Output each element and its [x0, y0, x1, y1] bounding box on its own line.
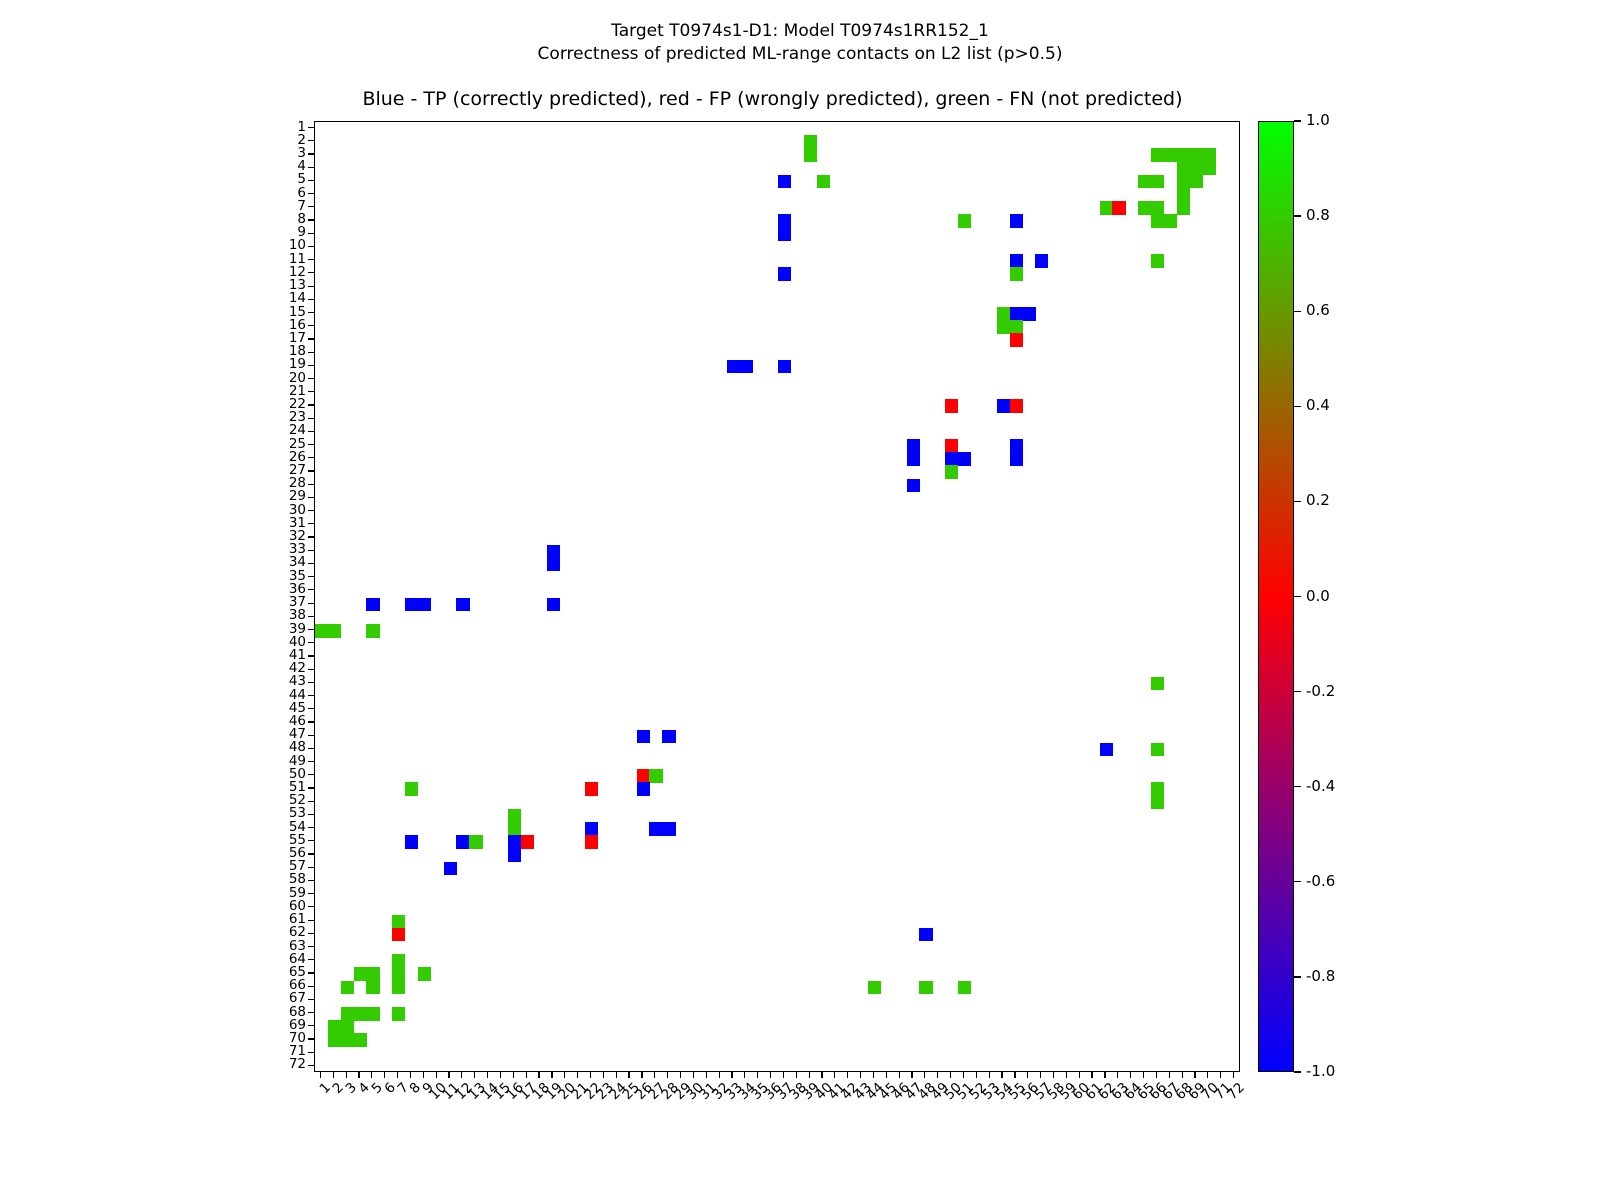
contact-cell — [444, 862, 457, 876]
y-tick — [308, 497, 314, 498]
contact-cell — [1177, 162, 1190, 176]
x-tick — [989, 1072, 990, 1078]
contact-cell — [907, 479, 920, 493]
y-tick — [308, 629, 314, 630]
contact-cell — [1151, 796, 1164, 810]
suptitle-line-2: Correctness of predicted ML-range contac… — [538, 44, 1063, 64]
contact-cell — [1151, 214, 1164, 228]
contact-cell — [1151, 743, 1164, 757]
contact-cell — [354, 967, 367, 981]
contact-cell — [456, 598, 469, 612]
y-tick — [308, 536, 314, 537]
contact-cell — [649, 822, 662, 836]
colorbar-tick-label: 0.8 — [1306, 208, 1330, 223]
axes-title: Blue - TP (correctly predicted), red - F… — [0, 88, 1545, 110]
contact-cell — [1151, 254, 1164, 268]
y-tick — [308, 972, 314, 973]
y-tick — [308, 708, 314, 709]
y-tick — [308, 391, 314, 392]
y-tick — [308, 682, 314, 683]
contact-cell — [341, 981, 354, 995]
x-tick — [320, 1072, 321, 1078]
colorbar-tick-label: 1.0 — [1306, 113, 1330, 128]
contact-cell — [1177, 201, 1190, 215]
y-tick — [308, 1065, 314, 1066]
y-tick — [308, 893, 314, 894]
contact-cell — [1151, 175, 1164, 189]
y-tick — [308, 153, 314, 154]
y-tick — [308, 576, 314, 577]
y-tick — [308, 352, 314, 353]
contact-cell — [778, 228, 791, 242]
y-tick — [308, 444, 314, 445]
y-tick — [308, 1052, 314, 1053]
contact-cell — [1151, 677, 1164, 691]
y-tick — [308, 127, 314, 128]
colorbar-tick — [1294, 596, 1301, 597]
x-tick — [783, 1072, 784, 1078]
contact-cell — [997, 320, 1010, 334]
y-tick — [308, 735, 314, 736]
contact-cell — [1010, 267, 1023, 281]
x-tick — [847, 1072, 848, 1078]
x-tick — [693, 1072, 694, 1078]
y-tick — [308, 193, 314, 194]
x-tick — [1117, 1072, 1118, 1078]
contact-cell — [945, 452, 958, 466]
y-tick — [308, 563, 314, 564]
x-tick — [976, 1072, 977, 1078]
x-tick — [834, 1072, 835, 1078]
colorbar-tick-label: -0.6 — [1306, 874, 1335, 889]
contact-cell — [907, 452, 920, 466]
contact-cell — [1100, 743, 1113, 757]
x-tick — [564, 1072, 565, 1078]
x-tick — [809, 1072, 810, 1078]
colorbar-tick — [1294, 881, 1301, 882]
contact-cell — [662, 822, 675, 836]
y-tick — [308, 180, 314, 181]
contact-cell — [958, 214, 971, 228]
contact-cell — [1177, 188, 1190, 202]
x-tick — [886, 1072, 887, 1078]
y-tick — [308, 325, 314, 326]
y-tick — [308, 761, 314, 762]
contact-cell — [341, 1020, 354, 1034]
x-tick — [358, 1072, 359, 1078]
colorbar-tick — [1294, 215, 1301, 216]
contact-cell — [662, 730, 675, 744]
contact-cell — [739, 360, 752, 374]
contact-cell — [354, 1033, 367, 1047]
y-tick — [308, 589, 314, 590]
contact-cell — [508, 809, 521, 823]
contact-cell — [1022, 307, 1035, 321]
contact-cell — [1010, 254, 1023, 268]
contact-cell — [366, 598, 379, 612]
y-tick — [308, 655, 314, 656]
contact-cell — [508, 822, 521, 836]
x-tick — [641, 1072, 642, 1078]
x-tick — [757, 1072, 758, 1078]
colorbar-tick — [1294, 976, 1301, 977]
contact-cell — [469, 835, 482, 849]
contact-cell — [945, 439, 958, 453]
figure-suptitle: Target T0974s1-D1: Model T0974s1RR152_1 … — [0, 20, 1600, 66]
contact-cell — [1202, 148, 1215, 162]
contact-cell — [997, 399, 1010, 413]
x-tick — [513, 1072, 514, 1078]
y-tick — [308, 959, 314, 960]
contact-cell — [1190, 148, 1203, 162]
contact-cell — [997, 307, 1010, 321]
y-tick — [308, 721, 314, 722]
x-tick — [616, 1072, 617, 1078]
contact-cell — [1010, 214, 1023, 228]
contact-cell — [1190, 162, 1203, 176]
y-tick — [308, 774, 314, 775]
x-tick — [963, 1072, 964, 1078]
y-tick-label: 72 — [262, 1058, 306, 1071]
colorbar-tick-label: -1.0 — [1306, 1064, 1335, 1079]
contact-cell — [1151, 148, 1164, 162]
x-tick — [770, 1072, 771, 1078]
contact-cell — [958, 981, 971, 995]
contact-cell — [392, 915, 405, 929]
y-tick — [308, 814, 314, 815]
y-tick — [308, 920, 314, 921]
contact-cell — [418, 967, 431, 981]
contact-cell — [315, 624, 328, 638]
contact-cell — [778, 267, 791, 281]
x-tick — [1194, 1072, 1195, 1078]
x-tick — [899, 1072, 900, 1078]
contact-cell — [585, 782, 598, 796]
contact-cell — [817, 175, 830, 189]
y-tick — [308, 603, 314, 604]
contact-cell — [418, 598, 431, 612]
contact-cell — [778, 175, 791, 189]
contact-cell — [508, 848, 521, 862]
y-tick — [308, 616, 314, 617]
y-tick — [308, 338, 314, 339]
contact-cell — [1177, 175, 1190, 189]
y-tick — [308, 748, 314, 749]
contact-cell — [508, 835, 521, 849]
x-tick — [654, 1072, 655, 1078]
contact-cell — [945, 465, 958, 479]
contact-cell — [547, 545, 560, 559]
colorbar-tick-label: -0.8 — [1306, 969, 1335, 984]
contact-cell — [1164, 148, 1177, 162]
x-tick — [1014, 1072, 1015, 1078]
contact-cell — [1151, 782, 1164, 796]
contact-cell — [1138, 201, 1151, 215]
y-tick — [308, 840, 314, 841]
contact-cell — [392, 954, 405, 968]
y-tick — [308, 550, 314, 551]
x-tick — [873, 1072, 874, 1078]
y-tick — [308, 404, 314, 405]
y-tick — [308, 787, 314, 788]
contact-cell — [1190, 175, 1203, 189]
contact-cell — [328, 1020, 341, 1034]
contact-cell — [392, 967, 405, 981]
y-tick — [308, 1025, 314, 1026]
y-tick — [308, 946, 314, 947]
y-tick — [308, 906, 314, 907]
colorbar[interactable] — [1258, 121, 1294, 1072]
contact-cell — [366, 967, 379, 981]
contact-cell — [366, 981, 379, 995]
colorbar-tick — [1294, 691, 1301, 692]
y-tick — [308, 246, 314, 247]
y-tick — [308, 695, 314, 696]
contact-cell — [919, 981, 932, 995]
contact-cell — [907, 439, 920, 453]
y-tick — [308, 853, 314, 854]
contact-cell — [405, 598, 418, 612]
y-tick — [308, 1038, 314, 1039]
x-tick — [744, 1072, 745, 1078]
y-tick — [308, 378, 314, 379]
colorbar-tick-label: 0.2 — [1306, 493, 1330, 508]
contact-cell — [366, 624, 379, 638]
x-tick — [667, 1072, 668, 1078]
y-tick — [308, 801, 314, 802]
contact-map-figure: Target T0974s1-D1: Model T0974s1RR152_1 … — [0, 0, 1600, 1200]
contact-cell — [341, 1033, 354, 1047]
y-tick — [308, 365, 314, 366]
x-tick — [1233, 1072, 1234, 1078]
contact-cell — [547, 558, 560, 572]
y-tick — [308, 470, 314, 471]
contact-cell — [804, 135, 817, 149]
contact-cell — [637, 769, 650, 783]
contact-cell — [1035, 254, 1048, 268]
contact-cell — [1164, 214, 1177, 228]
contact-cell — [637, 730, 650, 744]
x-tick — [551, 1072, 552, 1078]
x-tick — [950, 1072, 951, 1078]
y-tick — [308, 510, 314, 511]
y-tick — [308, 431, 314, 432]
x-tick — [924, 1072, 925, 1078]
contact-cell — [778, 360, 791, 374]
x-tick — [1027, 1072, 1028, 1078]
x-tick — [1104, 1072, 1105, 1078]
x-tick — [538, 1072, 539, 1078]
x-tick — [1001, 1072, 1002, 1078]
x-tick — [1066, 1072, 1067, 1078]
x-tick — [911, 1072, 912, 1078]
contact-cell — [328, 624, 341, 638]
contact-cell — [1112, 201, 1125, 215]
contact-cell — [405, 782, 418, 796]
contact-cell — [649, 769, 662, 783]
contact-cell — [354, 1007, 367, 1021]
suptitle-line-1: Target T0974s1-D1: Model T0974s1RR152_1 — [611, 21, 989, 41]
y-tick — [308, 827, 314, 828]
x-tick — [1156, 1072, 1157, 1078]
colorbar-tick — [1294, 311, 1301, 312]
x-tick — [1040, 1072, 1041, 1078]
colorbar-tick — [1294, 1071, 1301, 1072]
x-tick — [680, 1072, 681, 1078]
x-tick — [474, 1072, 475, 1078]
contact-map-plot-area[interactable] — [314, 121, 1240, 1072]
x-tick — [1207, 1072, 1208, 1078]
colorbar-tick-label: 0.6 — [1306, 303, 1330, 318]
x-tick — [628, 1072, 629, 1078]
contact-cell — [1010, 320, 1023, 334]
x-tick — [1053, 1072, 1054, 1078]
x-tick — [448, 1072, 449, 1078]
y-tick — [308, 457, 314, 458]
x-tick — [384, 1072, 385, 1078]
colorbar-tick-label: -0.4 — [1306, 779, 1335, 794]
y-tick — [308, 867, 314, 868]
contact-cell — [1010, 307, 1023, 321]
x-tick — [796, 1072, 797, 1078]
x-tick — [1169, 1072, 1170, 1078]
x-tick — [346, 1072, 347, 1078]
y-tick — [308, 233, 314, 234]
contact-cell — [1177, 148, 1190, 162]
contact-cell — [1100, 201, 1113, 215]
colorbar-tick — [1294, 120, 1301, 121]
x-tick — [937, 1072, 938, 1078]
contact-cell — [919, 928, 932, 942]
contact-cell — [341, 1007, 354, 1021]
y-tick — [308, 206, 314, 207]
x-tick — [1079, 1072, 1080, 1078]
colorbar-tick-label: 0.0 — [1306, 589, 1330, 604]
contact-cell — [1010, 399, 1023, 413]
x-tick — [1091, 1072, 1092, 1078]
y-tick — [308, 299, 314, 300]
contact-cell — [547, 598, 560, 612]
contact-cell — [405, 835, 418, 849]
colorbar-tick-label: 0.4 — [1306, 398, 1330, 413]
contact-cell — [366, 1007, 379, 1021]
y-tick — [308, 523, 314, 524]
contact-cell — [1202, 162, 1215, 176]
x-tick — [526, 1072, 527, 1078]
contact-cell — [778, 214, 791, 228]
x-tick — [371, 1072, 372, 1078]
x-tick — [821, 1072, 822, 1078]
colorbar-tick — [1294, 501, 1301, 502]
x-tick — [423, 1072, 424, 1078]
x-tick — [487, 1072, 488, 1078]
y-tick — [308, 642, 314, 643]
x-tick — [436, 1072, 437, 1078]
contact-cell — [392, 928, 405, 942]
x-tick — [461, 1072, 462, 1078]
colorbar-tick — [1294, 786, 1301, 787]
x-tick — [1220, 1072, 1221, 1078]
x-tick — [1130, 1072, 1131, 1078]
x-tick — [410, 1072, 411, 1078]
x-tick — [500, 1072, 501, 1078]
contact-cell — [392, 981, 405, 995]
y-tick — [308, 986, 314, 987]
x-tick — [577, 1072, 578, 1078]
contact-cell — [958, 452, 971, 466]
y-tick — [308, 312, 314, 313]
y-tick — [308, 418, 314, 419]
contact-cell — [804, 148, 817, 162]
contact-cell — [637, 782, 650, 796]
x-tick — [1182, 1072, 1183, 1078]
contact-cell — [1010, 439, 1023, 453]
contact-cell — [1010, 333, 1023, 347]
y-tick — [308, 286, 314, 287]
x-tick — [333, 1072, 334, 1078]
x-tick — [397, 1072, 398, 1078]
contact-cell — [1010, 452, 1023, 466]
y-tick — [308, 484, 314, 485]
contact-cell — [727, 360, 740, 374]
x-tick — [706, 1072, 707, 1078]
y-tick — [308, 669, 314, 670]
y-tick — [308, 1012, 314, 1013]
colorbar-tick — [1294, 406, 1301, 407]
contact-cell — [1151, 201, 1164, 215]
contact-cell — [521, 835, 534, 849]
y-tick — [308, 933, 314, 934]
x-tick — [1143, 1072, 1144, 1078]
y-tick — [308, 880, 314, 881]
contact-cell — [868, 981, 881, 995]
colorbar-tick-label: -0.2 — [1306, 684, 1335, 699]
x-tick — [860, 1072, 861, 1078]
y-tick — [308, 259, 314, 260]
contact-cell — [392, 1007, 405, 1021]
y-tick — [308, 219, 314, 220]
contact-cell — [585, 835, 598, 849]
contact-cell — [456, 835, 469, 849]
y-tick — [308, 167, 314, 168]
x-tick — [731, 1072, 732, 1078]
x-tick — [719, 1072, 720, 1078]
x-tick — [603, 1072, 604, 1078]
contact-cells-layer — [315, 122, 1239, 1071]
contact-cell — [1138, 175, 1151, 189]
contact-cell — [585, 822, 598, 836]
y-tick — [308, 272, 314, 273]
contact-cell — [328, 1033, 341, 1047]
contact-cell — [945, 399, 958, 413]
y-tick — [308, 140, 314, 141]
y-tick — [308, 999, 314, 1000]
x-tick — [590, 1072, 591, 1078]
